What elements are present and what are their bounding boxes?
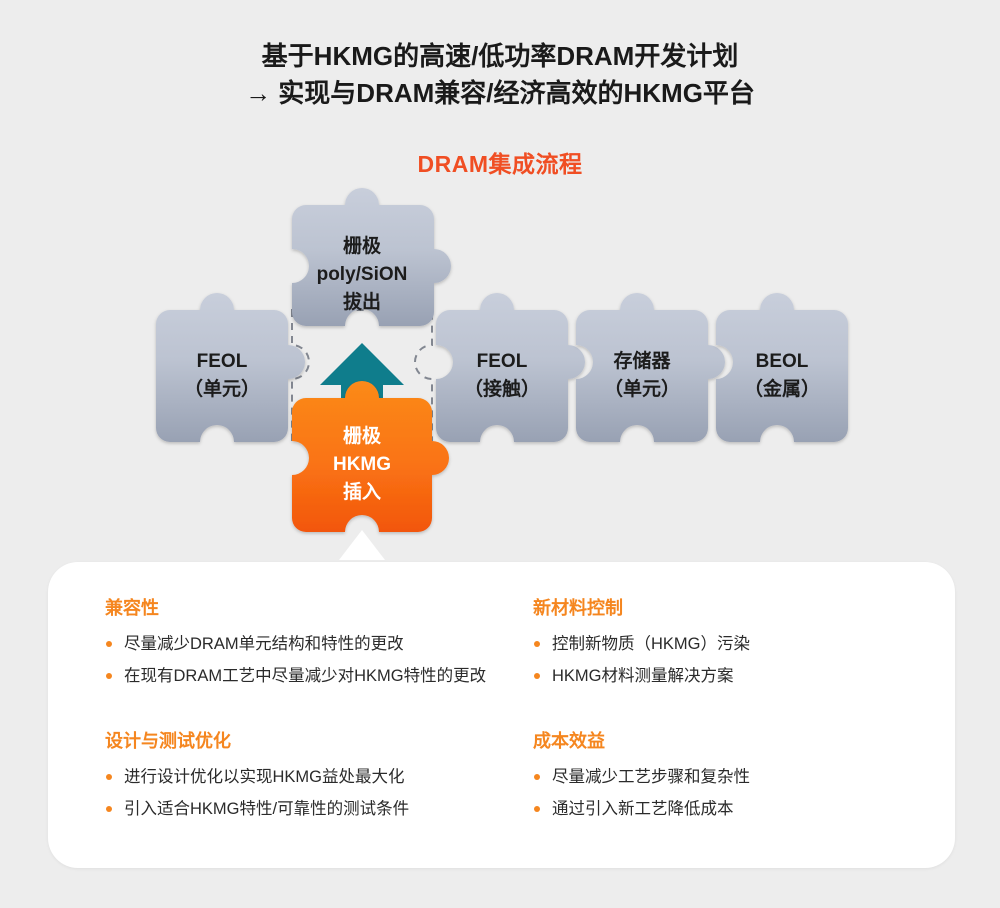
bullet-dot	[534, 806, 540, 812]
piece-label-line1: 栅极	[343, 234, 382, 257]
list-item-text: 尽量减少工艺步骤和复杂性	[552, 768, 750, 786]
piece-label-line2: poly/SiON	[317, 264, 408, 285]
list-item-text: 控制新物质（HKMG）污染	[552, 635, 750, 653]
puzzle-piece-feol-cell[interactable]: FEOL （单元）	[156, 293, 305, 442]
puzzle-piece-memory-cell[interactable]: 存储器 （单元）	[576, 293, 725, 442]
puzzle-piece-beol-metal[interactable]: BEOL （金属）	[716, 293, 848, 442]
section-compatibility: 兼容性 尽量减少DRAM单元结构和特性的更改 在现有DRAM工艺中尽量减少对HK…	[105, 597, 486, 692]
page-title: 基于HKMG的高速/低功率DRAM开发计划 → 实现与DRAM兼容/经济高效的H…	[0, 38, 1000, 112]
bullet-dot	[106, 641, 112, 647]
list-item: 通过引入新工艺降低成本	[533, 793, 750, 825]
puzzle-piece-gate-hkmg[interactable]: 栅极 HKMG 插入	[292, 381, 449, 532]
section-bullet-list: 尽量减少DRAM单元结构和特性的更改 在现有DRAM工艺中尽量减少对HKMG特性…	[105, 628, 486, 692]
key-considerations-panel: 兼容性 尽量减少DRAM单元结构和特性的更改 在现有DRAM工艺中尽量减少对HK…	[48, 562, 955, 868]
piece-label-line1: FEOL	[477, 351, 528, 372]
piece-label-line2: （金属）	[744, 377, 820, 400]
list-item-text: 引入适合HKMG特性/可靠性的测试条件	[124, 800, 409, 818]
piece-label-line1: FEOL	[197, 351, 248, 372]
section-title: 设计与测试优化	[105, 730, 409, 752]
list-item-text: 进行设计优化以实现HKMG益处最大化	[124, 768, 405, 786]
panel-pointer	[326, 530, 398, 560]
piece-label-line3: 插入	[343, 481, 381, 503]
piece-label-line3: 拔出	[343, 290, 381, 313]
section-title: 成本效益	[533, 730, 750, 752]
section-bullet-list: 进行设计优化以实现HKMG益处最大化 引入适合HKMG特性/可靠性的测试条件	[105, 761, 409, 825]
section-cost-effectiveness: 成本效益 尽量减少工艺步骤和复杂性 通过引入新工艺降低成本	[533, 730, 750, 825]
bullet-dot	[534, 673, 540, 679]
puzzle-piece-gate-poly-sion[interactable]: 栅极 poly/SiON 拔出	[292, 188, 451, 326]
diagram-subtitle: DRAM集成流程	[0, 145, 1000, 179]
piece-label-line2: （单元）	[604, 377, 680, 400]
list-item-text: HKMG材料测量解决方案	[552, 667, 734, 685]
section-new-material-control: 新材料控制 控制新物质（HKMG）污染 HKMG材料测量解决方案	[533, 597, 750, 692]
list-item-text: 在现有DRAM工艺中尽量减少对HKMG特性的更改	[124, 667, 486, 685]
piece-label-line2: （接触）	[464, 377, 540, 400]
bullet-dot	[534, 774, 540, 780]
list-item: 控制新物质（HKMG）污染	[533, 628, 750, 660]
section-title: 兼容性	[105, 597, 486, 619]
list-item: 在现有DRAM工艺中尽量减少对HKMG特性的更改	[105, 660, 486, 692]
section-bullet-list: 尽量减少工艺步骤和复杂性 通过引入新工艺降低成本	[533, 761, 750, 825]
section-design-test-optimization: 设计与测试优化 进行设计优化以实现HKMG益处最大化 引入适合HKMG特性/可靠…	[105, 730, 409, 825]
list-item: HKMG材料测量解决方案	[533, 660, 750, 692]
piece-label-line2: HKMG	[333, 454, 391, 475]
bullet-dot	[106, 806, 112, 812]
section-title: 新材料控制	[533, 597, 750, 619]
bullet-dot	[534, 641, 540, 647]
title-line-2: → 实现与DRAM兼容/经济高效的HKMG平台	[0, 75, 1000, 112]
list-item: 尽量减少工艺步骤和复杂性	[533, 761, 750, 793]
slide-root: 基于HKMG的高速/低功率DRAM开发计划 → 实现与DRAM兼容/经济高效的H…	[0, 0, 1000, 908]
puzzle-piece-feol-contact[interactable]: FEOL （接触）	[436, 293, 585, 442]
list-item: 尽量减少DRAM单元结构和特性的更改	[105, 628, 486, 660]
list-item-text: 通过引入新工艺降低成本	[552, 800, 734, 818]
title-line-1: 基于HKMG的高速/低功率DRAM开发计划	[0, 38, 1000, 75]
dram-integration-flow-diagram: FEOL （单元） 栅极 poly/SiON 拔出 FEOL （接触） 存储器 …	[0, 185, 1000, 560]
list-item: 进行设计优化以实现HKMG益处最大化	[105, 761, 409, 793]
piece-label-line1: BEOL	[756, 351, 809, 372]
piece-label-line2: （单元）	[184, 377, 260, 400]
piece-label-line1: 存储器	[613, 349, 671, 372]
piece-label-line1: 栅极	[343, 424, 382, 447]
list-item-text: 尽量减少DRAM单元结构和特性的更改	[124, 635, 404, 653]
bullet-dot	[106, 673, 112, 679]
bullet-dot	[106, 774, 112, 780]
section-bullet-list: 控制新物质（HKMG）污染 HKMG材料测量解决方案	[533, 628, 750, 692]
list-item: 引入适合HKMG特性/可靠性的测试条件	[105, 793, 409, 825]
